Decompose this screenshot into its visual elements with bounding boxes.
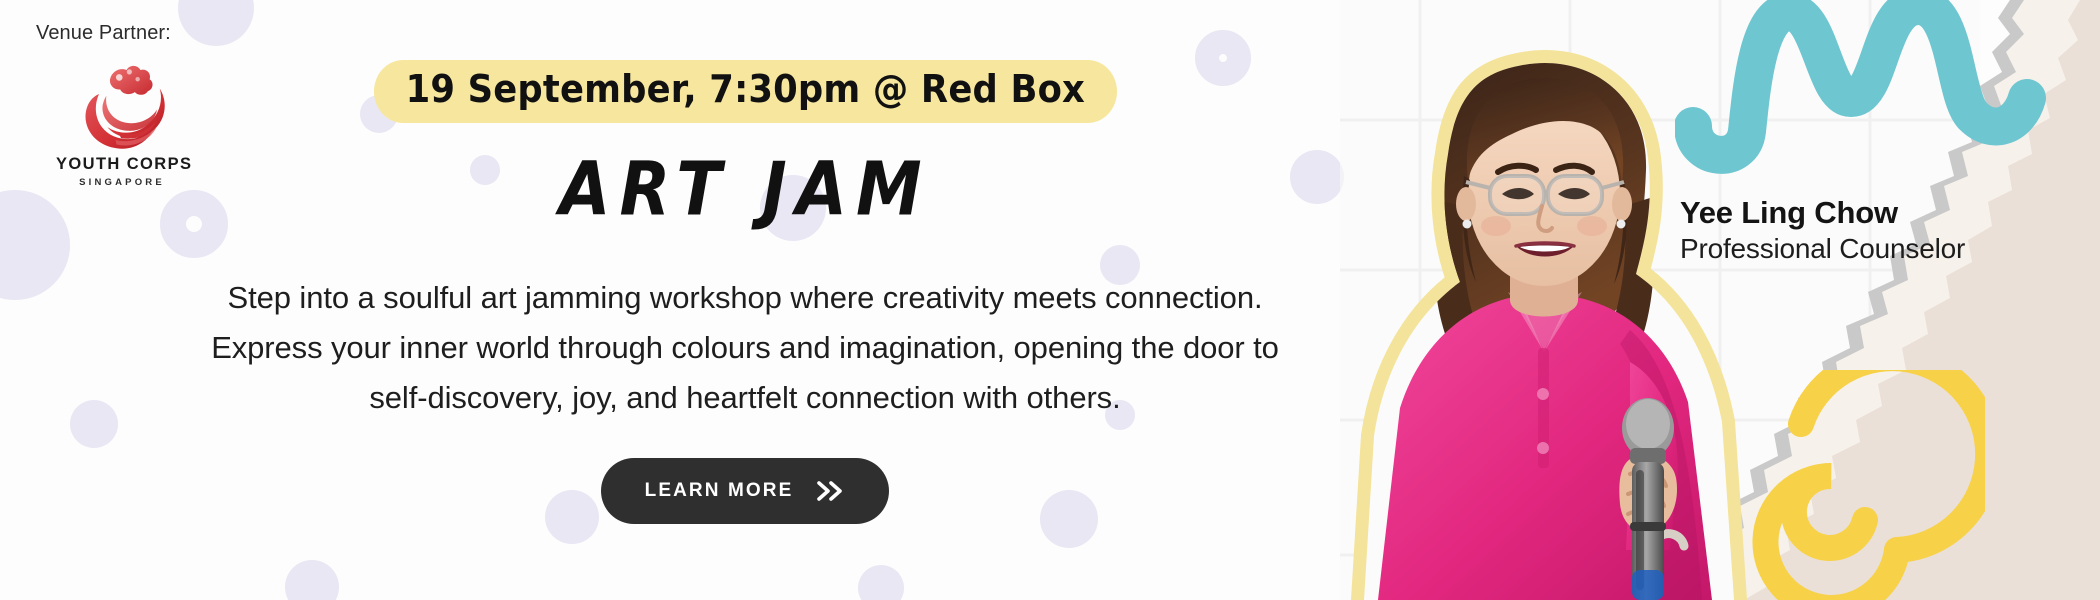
double-chevron-right-icon [815, 480, 845, 502]
event-date-badge: 19 September, 7:30pm @ Red Box [374, 60, 1117, 123]
learn-more-button[interactable]: LEARN MORE [601, 458, 890, 524]
cta-container: LEARN MORE [110, 458, 1380, 524]
description-line-3: self-discovery, joy, and heartfelt conne… [148, 373, 1342, 423]
description-line-2: Express your inner world through colours… [148, 323, 1342, 373]
speaker-name-block: Yee Ling Chow Professional Counselor [1680, 196, 2010, 265]
art-jam-promo-banner: Venue Partner: [0, 0, 2100, 600]
main-content-column: 19 September, 7:30pm @ Red Box ART JAM S… [110, 0, 1380, 600]
event-description: Step into a soulful art jamming workshop… [110, 273, 1380, 424]
description-line-1: Step into a soulful art jamming workshop… [148, 273, 1342, 323]
learn-more-label: LEARN MORE [645, 480, 794, 502]
decor-dot [0, 190, 70, 300]
event-title: ART JAM [110, 153, 1380, 227]
speaker-name: Yee Ling Chow [1680, 196, 2010, 231]
speaker-photo-yee-ling-chow [1330, 30, 1770, 600]
speaker-role: Professional Counselor [1680, 232, 2010, 265]
